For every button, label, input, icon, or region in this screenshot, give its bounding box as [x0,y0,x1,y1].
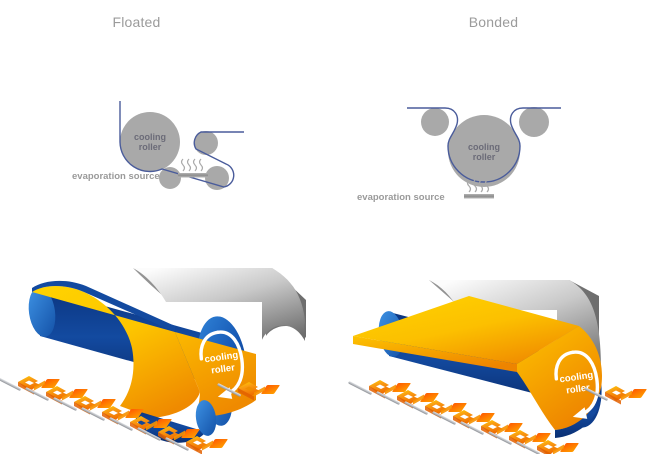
panel-title-bonded: Bonded [329,14,658,30]
cooling-roller-label-line1: cooling [134,132,166,142]
schematic-floated: evaporation source cooling roller [0,46,329,191]
nip-roller-left [421,108,449,136]
panel-floated: Floated [0,0,329,454]
evaporation-source-label: evaporation source [72,171,160,182]
heat-squiggles [182,159,203,171]
panel-bonded: Bonded [329,0,658,454]
schematic-bonded: evaporation source cooling roller [329,46,658,191]
evaporation-boats [348,380,647,454]
evaporation-bar [464,194,494,199]
solid-illustration-floated: cooling roller [0,240,329,454]
solid-illustration-bonded: cooling roller [329,240,658,454]
nip-roller-right [519,107,549,137]
nip-roller-lower-left [159,167,181,189]
cooling-roller-label-line1: cooling [468,142,500,152]
evaporation-bar [178,173,208,178]
evaporation-source-label: evaporation source [357,192,445,203]
cooling-roller-label-line2: roller [139,142,162,152]
panel-title-floated: Floated [0,14,301,30]
cooling-roller-label-line2: roller [473,152,496,162]
